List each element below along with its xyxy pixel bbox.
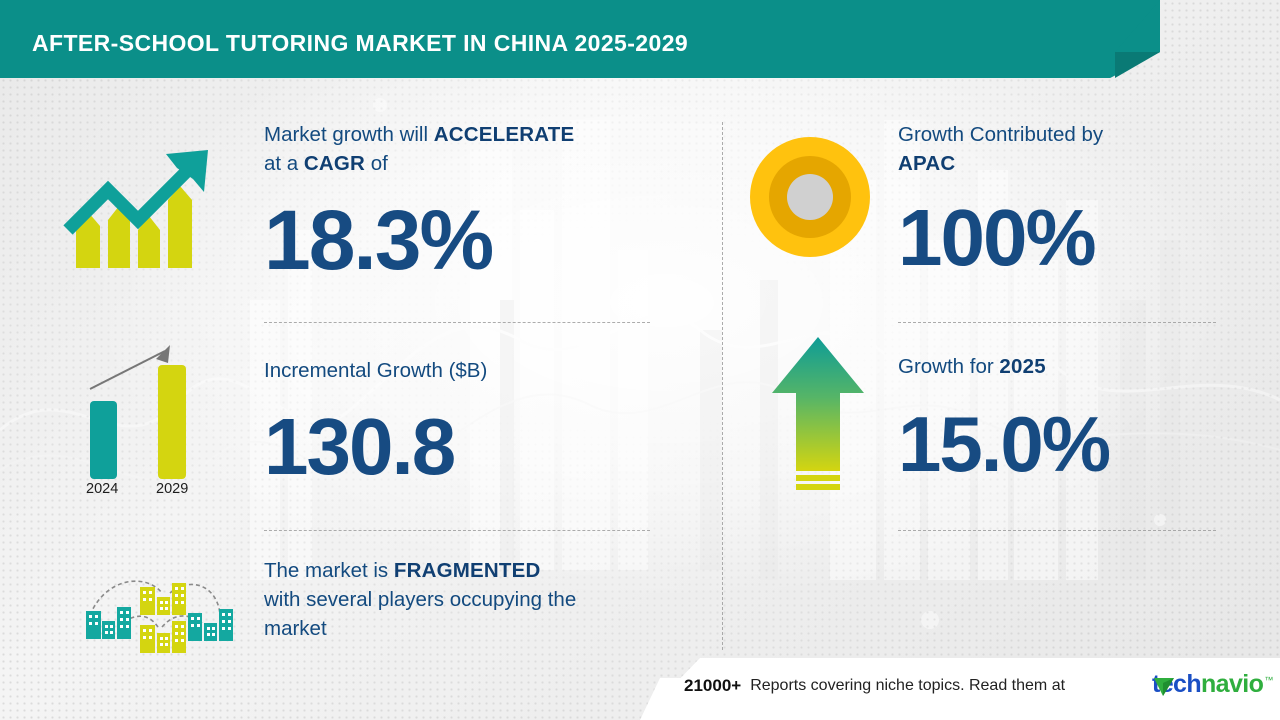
panel-fragmented-icon <box>62 563 242 663</box>
footer-bar: 21000+ Reports covering niche topics. Re… <box>0 658 1280 720</box>
right-divider-1 <box>898 322 1216 323</box>
page-title: AFTER-SCHOOL TUTORING MARKET IN CHINA 20… <box>32 30 688 57</box>
apac-value: 100% <box>898 198 1103 278</box>
cagr-caption-l2-pre: at a <box>264 152 304 175</box>
apac-caption-l1: Growth Contributed by <box>898 123 1103 146</box>
bar-label-2029: 2029 <box>156 481 188 497</box>
growth-caption-bold: 2025 <box>999 355 1045 378</box>
cagr-caption-l2-bold: CAGR <box>304 152 365 175</box>
city-clusters-network-icon <box>62 563 242 658</box>
technavio-logo[interactable]: tech navio ™ <box>1152 672 1273 697</box>
growth-value: 15.0% <box>898 405 1109 483</box>
panel-apac-text: Growth Contributed by APAC 100% <box>898 120 1103 278</box>
right-divider-2 <box>898 530 1216 531</box>
growth-bar-chart-arrow-icon <box>62 138 222 278</box>
panel-incremental-icon: 2024 2029 <box>70 333 220 498</box>
bar-label-2024: 2024 <box>86 481 118 497</box>
fragmented-caption-l2: with several players occupying the <box>264 588 576 611</box>
apac-caption-bold: APAC <box>898 152 955 175</box>
left-divider-2 <box>264 530 650 531</box>
footer-message: Reports covering niche topics. Read them… <box>750 677 1065 695</box>
growth-caption: Growth for 2025 <box>898 352 1109 381</box>
fragmented-caption-l1-pre: The market is <box>264 559 394 582</box>
panel-cagr-text: Market growth will ACCELERATE at a CAGR … <box>264 120 574 282</box>
panel-growth-icon <box>768 331 868 504</box>
cagr-value: 18.3% <box>264 198 574 282</box>
footer-text-row: 21000+ Reports covering niche topics. Re… <box>684 676 1065 696</box>
fragmented-caption-l3: market <box>264 617 327 640</box>
panel-growth-text: Growth for 2025 15.0% <box>898 352 1109 483</box>
incremental-value: 130.8 <box>264 407 487 487</box>
infographic-body: Market growth will ACCELERATE at a CAGR … <box>0 78 1280 658</box>
cagr-caption: Market growth will ACCELERATE at a CAGR … <box>264 120 574 178</box>
two-bar-comparison-icon <box>70 333 220 493</box>
up-arrow-gradient-icon <box>768 331 868 499</box>
technavio-arrow-mark <box>1152 672 1178 698</box>
incremental-caption: Incremental Growth ($B) <box>264 356 487 385</box>
left-divider-1 <box>264 322 650 323</box>
cagr-caption-l2-post: of <box>365 152 388 175</box>
panel-incremental-text: Incremental Growth ($B) 130.8 <box>264 356 487 487</box>
cagr-caption-l1-bold: ACCELERATE <box>434 123 575 146</box>
panel-cagr-icon <box>62 138 222 283</box>
logo-text-navio: navio <box>1201 672 1263 697</box>
logo-trademark: ™ <box>1264 675 1273 685</box>
fragmented-caption-l1-bold: FRAGMENTED <box>394 559 541 582</box>
footer-shape <box>0 658 1280 720</box>
panel-fragmented-text: The market is FRAGMENTED with several pl… <box>264 556 576 643</box>
fragmented-caption: The market is FRAGMENTED with several pl… <box>264 556 576 643</box>
header-banner: AFTER-SCHOOL TUTORING MARKET IN CHINA 20… <box>0 0 1280 110</box>
column-divider <box>722 122 723 650</box>
panel-apac-icon <box>748 135 872 264</box>
footer-report-count: 21000+ <box>684 676 741 696</box>
cagr-caption-l1-pre: Market growth will <box>264 123 434 146</box>
apac-caption: Growth Contributed by APAC <box>898 120 1103 178</box>
growth-caption-pre: Growth for <box>898 355 999 378</box>
donut-chart-icon <box>748 135 872 259</box>
